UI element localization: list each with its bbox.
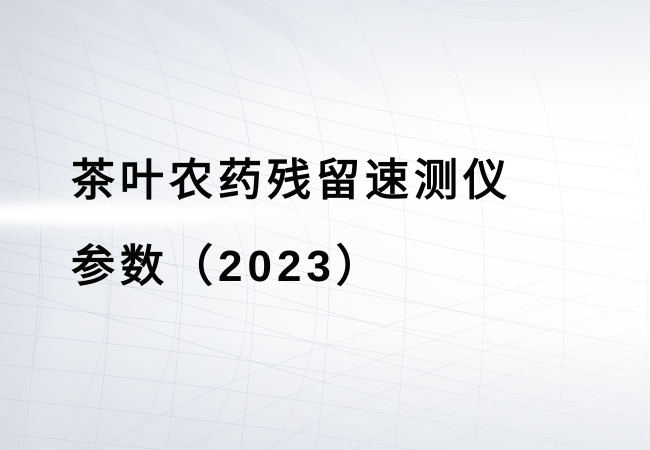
banner: 茶叶农药残留速测仪 参数（2023） [0, 0, 650, 450]
title-line-1: 茶叶农药残留速测仪 [71, 138, 591, 224]
title-block: 茶叶农药残留速测仪 参数（2023） [71, 138, 591, 310]
title-line-2: 参数（2023） [71, 224, 591, 310]
